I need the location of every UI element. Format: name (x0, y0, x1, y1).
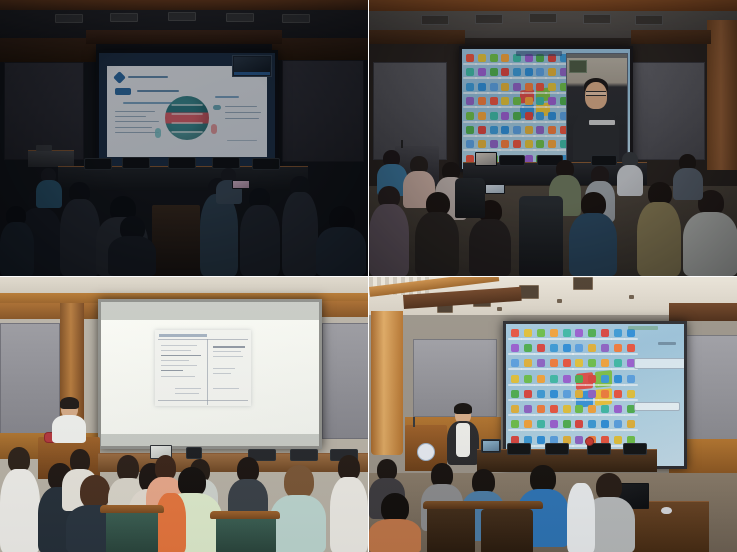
audience-member (567, 483, 595, 552)
document-sheet (155, 330, 251, 406)
scene-dark-auditorium-survey (0, 0, 368, 276)
document-row (161, 365, 197, 366)
cloud-icon (213, 105, 221, 110)
podium-microphone (413, 417, 415, 427)
desktop-icon[interactable] (599, 357, 611, 371)
desktop-icon-label (521, 414, 535, 416)
desktop-icon-glyph (511, 344, 519, 352)
desktop-icon[interactable] (509, 357, 521, 371)
torso (200, 194, 238, 276)
video-window-titlebar[interactable] (567, 54, 627, 58)
desktop-icon-label (560, 384, 574, 386)
desktop-icon[interactable] (612, 388, 624, 402)
desktop-icon-label (521, 429, 535, 431)
desktop-icon-glyph (588, 375, 596, 383)
desktop-icon-glyph (525, 97, 533, 105)
torso (637, 202, 681, 276)
person-figure-icon-left (155, 128, 161, 138)
desktop-icon[interactable] (612, 403, 624, 417)
desktop-icon-glyph (537, 405, 545, 413)
desktop-icon[interactable] (612, 418, 624, 432)
audience-member (316, 206, 366, 276)
ceiling-light-1 (55, 14, 83, 23)
seat-back (481, 509, 533, 552)
ceiling-light-1 (421, 15, 449, 25)
projector-screen-frame[interactable] (96, 50, 278, 172)
desktop-icon-glyph (524, 359, 532, 367)
desktop-icon-label (534, 399, 548, 401)
desktop-icon-glyph (536, 126, 544, 134)
desktop-icon[interactable] (509, 388, 521, 402)
panel-bottom-right[interactable] (368, 276, 737, 552)
desktop-icon[interactable] (561, 388, 573, 402)
desktop-icon-glyph (466, 97, 474, 105)
ceiling-light-2 (110, 13, 138, 22)
sphere-band-label-3 (172, 122, 203, 124)
torso (36, 180, 62, 208)
slide-survey (107, 66, 267, 157)
document-row (161, 370, 183, 371)
ceiling-wood-beam (369, 0, 737, 11)
desktop-icon[interactable] (612, 357, 624, 371)
desktop-icon[interactable] (535, 388, 547, 402)
desktop-icon-glyph (601, 405, 609, 413)
desktop-icon-glyph (575, 359, 583, 367)
desktop-icon-glyph (537, 329, 545, 337)
document-cell (213, 373, 231, 374)
remote-participant-thumbnail[interactable] (232, 55, 272, 77)
monitor-screen (483, 441, 499, 451)
desktop-icon-label (560, 338, 574, 340)
audience-member (0, 206, 34, 276)
desktop-icon-label (611, 399, 625, 401)
desktop-icon[interactable] (509, 418, 521, 432)
desktop-icon[interactable] (522, 418, 534, 432)
desktop-icon-glyph (563, 329, 571, 337)
desktop-icon-label (508, 338, 522, 340)
desktop-title-bar (628, 326, 658, 330)
desktop-icon[interactable] (561, 327, 573, 341)
desktop-icon-label (534, 368, 548, 370)
desktop-icon-glyph (511, 420, 519, 428)
ceiling-light-2 (475, 14, 503, 24)
desktop-icon-glyph (575, 329, 583, 337)
seat-arm (100, 505, 164, 513)
desktop-icon-label (547, 338, 561, 340)
desktop-icon-grid[interactable] (462, 49, 572, 169)
wall-pillar-right (707, 20, 737, 170)
desktop-icon-glyph (501, 97, 509, 105)
ceiling-light-3 (529, 13, 557, 23)
desktop-icon-glyph (511, 375, 519, 383)
desktop-icon-glyph (490, 54, 498, 62)
desktop-icon-label (560, 429, 574, 431)
desktop-icon-glyph (524, 375, 532, 383)
desktop-icon-label (598, 414, 612, 416)
presenter-laptop[interactable] (475, 152, 497, 166)
desktop-icon-label (508, 429, 522, 431)
desktop-icon-label (611, 338, 625, 340)
control-monitor-5 (252, 158, 280, 170)
desktop-icon[interactable] (561, 418, 573, 432)
desktop-icon[interactable] (535, 342, 547, 356)
desktop-icon-glyph (490, 68, 498, 76)
desktop-icon[interactable] (573, 357, 585, 371)
meeting-notification[interactable] (634, 358, 684, 369)
presenter-hair (454, 403, 472, 414)
desktop-icon[interactable] (535, 418, 547, 432)
desktop-icon[interactable] (625, 388, 637, 402)
desktop-icon-glyph (478, 54, 486, 62)
desktop-icon[interactable] (561, 403, 573, 417)
desktop-icon-label (508, 384, 522, 386)
projector-screen-frame[interactable] (98, 299, 322, 449)
desktop-icon[interactable] (548, 418, 560, 432)
desktop-icon-glyph (550, 375, 558, 383)
desktop-icon-glyph (537, 390, 545, 398)
desktop-icon[interactable] (548, 403, 560, 417)
audience-laptop (232, 180, 250, 189)
document-footer-rule (158, 400, 248, 401)
desktop-icon-label (547, 399, 561, 401)
desktop-icon-glyph (513, 140, 521, 148)
desktop-icon[interactable] (586, 373, 598, 387)
desktop-icon[interactable] (586, 327, 598, 341)
desktop-icon[interactable] (561, 342, 573, 356)
desktop-icon[interactable] (509, 342, 521, 356)
desktop-icon-glyph (614, 420, 622, 428)
desktop-icon[interactable] (561, 357, 573, 371)
seat-back (455, 178, 485, 218)
seat-back (519, 196, 563, 276)
torso (316, 227, 366, 276)
slide-document-scan (101, 320, 319, 434)
desktop-icon-glyph (490, 112, 498, 120)
desktop-icon-glyph (478, 112, 486, 120)
desktop-icon-label (534, 338, 548, 340)
panel-top-right[interactable] (368, 0, 737, 276)
desktop-icon-glyph (550, 359, 558, 367)
desktop-icon-label (598, 384, 612, 386)
desktop-icon-glyph (601, 420, 609, 428)
desktop-icon[interactable] (548, 357, 560, 371)
red-marker (585, 437, 594, 446)
control-monitor-3 (591, 155, 617, 166)
control-monitor-2 (507, 443, 531, 455)
audience-member (569, 192, 617, 276)
torso (108, 236, 156, 276)
left-item-3 (115, 127, 152, 128)
desktop-icon[interactable] (573, 418, 585, 432)
desktop-icon[interactable] (573, 434, 585, 448)
desktop-icon[interactable] (625, 373, 637, 387)
desktop-icon-glyph (511, 405, 519, 413)
desktop-icon-glyph (601, 329, 609, 337)
desktop-icon-label (624, 338, 638, 340)
desktop-icon[interactable] (561, 373, 573, 387)
document-column-divider (207, 339, 208, 405)
desktop-icon-glyph (627, 344, 635, 352)
audience-member (415, 192, 459, 276)
desktop-icon-label (598, 399, 612, 401)
desktop-icon-glyph (614, 436, 622, 444)
desktop-icon-glyph (525, 140, 533, 148)
desktop-icon-glyph (601, 375, 609, 383)
desktop-icon[interactable] (573, 327, 585, 341)
desktop-icon-label (534, 384, 548, 386)
desktop-icon[interactable] (509, 373, 521, 387)
scene-video-conference (369, 0, 737, 276)
desktop-icon-label (585, 399, 599, 401)
desktop-icon[interactable] (573, 403, 585, 417)
desk-monitor-1 (186, 447, 202, 459)
document-cell (213, 356, 243, 357)
desktop-icon-glyph (478, 83, 486, 91)
desktop-icon[interactable] (522, 373, 534, 387)
desktop-icon-label (598, 429, 612, 431)
desktop-icon[interactable] (586, 357, 598, 371)
audience-member (673, 154, 703, 200)
desktop-icon[interactable] (522, 327, 534, 341)
panel-bottom-left[interactable] (0, 276, 368, 552)
desktop-icon[interactable] (573, 342, 585, 356)
video-call-window[interactable] (566, 53, 628, 165)
desktop-icon[interactable] (599, 373, 611, 387)
desktop-icon-label (624, 429, 638, 431)
desktop-icon[interactable] (522, 342, 534, 356)
desktop-icon-glyph (525, 112, 533, 120)
desktop-icon-glyph (466, 83, 474, 91)
desktop-icon[interactable] (548, 327, 560, 341)
desktop-icon-glyph (614, 359, 622, 367)
desktop-icon-glyph (550, 405, 558, 413)
audience-member (282, 176, 318, 276)
speaker (52, 399, 86, 443)
desktop-icon[interactable] (535, 327, 547, 341)
desktop-icon-glyph (524, 344, 532, 352)
control-monitor-1 (481, 439, 501, 453)
desktop-icon-glyph (490, 97, 498, 105)
desktop-icon-label (598, 338, 612, 340)
desktop-icon[interactable] (625, 418, 637, 432)
left-item-detail-1 (115, 121, 159, 122)
desktop-icon-glyph (524, 405, 532, 413)
audience-member (330, 455, 368, 552)
desktop-icon-glyph (525, 126, 533, 134)
document-cell (213, 351, 241, 352)
banded-sphere-graphic (165, 96, 209, 140)
presenter-shirt (456, 423, 470, 457)
desktop-icon-label (534, 353, 548, 355)
desktop-icon-glyph (466, 140, 474, 148)
desktop-icon-glyph (524, 420, 532, 428)
right-item-1 (225, 106, 257, 107)
desktop-icon-label (508, 399, 522, 401)
desktop-icon-glyph (490, 140, 498, 148)
left-item-1 (115, 111, 155, 112)
torso (0, 222, 34, 276)
desktop-icon[interactable] (522, 357, 534, 371)
desktop-icon[interactable] (625, 342, 637, 356)
desktop-icon-glyph (588, 420, 596, 428)
projector-screen-surface (101, 302, 319, 446)
self-view-thumbnail[interactable] (569, 60, 587, 73)
desktop-icon[interactable] (535, 403, 547, 417)
desktop-icon-glyph (501, 126, 509, 134)
desktop-icon[interactable] (548, 373, 560, 387)
desktop-icon-label (585, 338, 599, 340)
desktop-icon-label (572, 445, 586, 447)
pip-caption-bar (234, 72, 270, 75)
desktop-icon-glyph (627, 329, 635, 337)
seat-back (427, 505, 475, 552)
desktop-icon-glyph (536, 140, 544, 148)
desktop-icon-glyph (537, 436, 545, 444)
desk-monitor-3 (290, 449, 318, 461)
desktop-icon[interactable] (586, 403, 598, 417)
desktop-icon-label (611, 429, 625, 431)
desktop-icon[interactable] (522, 388, 534, 402)
desktop-icon-glyph (575, 420, 583, 428)
desktop-icon-glyph (548, 68, 556, 76)
head (284, 465, 314, 499)
desktop-icon-glyph (563, 344, 571, 352)
desktop-icon[interactable] (535, 357, 547, 371)
desktop-icon-label (572, 384, 586, 386)
desktop-icon-glyph (575, 390, 583, 398)
desktop-icon-glyph (501, 112, 509, 120)
desktop-icon-label (624, 399, 638, 401)
desktop-icon-label (611, 368, 625, 370)
desktop-icon-label (572, 338, 586, 340)
panel-top-left[interactable] (0, 0, 368, 276)
desktop-icon-glyph (537, 420, 545, 428)
right-block-title (215, 96, 239, 98)
desktop-icon-glyph (513, 97, 521, 105)
desktop-icon[interactable] (509, 327, 521, 341)
desktop-icon[interactable] (586, 342, 598, 356)
wall-column-center (86, 30, 282, 44)
desktop-icon[interactable] (522, 403, 534, 417)
desktop-icon[interactable] (599, 418, 611, 432)
desktop-icon-glyph (588, 390, 596, 398)
desktop-icon-label (547, 384, 561, 386)
wall-trim-right (272, 38, 368, 60)
document-row (161, 360, 189, 361)
audience-laptop (485, 184, 505, 194)
desktop-icon-glyph (524, 390, 532, 398)
desktop-icon-label (585, 353, 599, 355)
ceiling-light-5 (635, 15, 663, 25)
desktop-icon[interactable] (535, 373, 547, 387)
right-item-3 (225, 118, 259, 119)
desktop-icon-label (508, 353, 522, 355)
desktop-icon-label (560, 368, 574, 370)
wall-trim-left (0, 38, 96, 62)
wall-band-left (0, 303, 100, 319)
seat-arm (210, 511, 280, 519)
desktop-icon[interactable] (612, 327, 624, 341)
sphere-band-label-4 (172, 131, 203, 133)
desktop-icon-glyph (550, 344, 558, 352)
desktop-icon-glyph (525, 83, 533, 91)
document-title (159, 334, 207, 337)
desktop-icon[interactable] (548, 388, 560, 402)
projector-screen-surface (462, 49, 630, 169)
wall-panel-right (282, 60, 364, 162)
desktop-icon[interactable] (586, 418, 598, 432)
torso (369, 204, 409, 276)
desktop-icon[interactable] (573, 388, 585, 402)
desktop-icon-glyph (601, 344, 609, 352)
desktop-icon[interactable] (573, 373, 585, 387)
document-cell (213, 388, 239, 389)
desktop-icon-glyph (501, 140, 509, 148)
desktop-icon-glyph (525, 68, 533, 76)
desktop-icon[interactable] (548, 342, 560, 356)
section-badge (115, 88, 131, 95)
desktop-icon-glyph (575, 405, 583, 413)
projector-unit (36, 145, 52, 151)
desktop-icon-label (547, 414, 561, 416)
wall-pillar-left (371, 311, 403, 455)
torso (270, 495, 326, 552)
torso (673, 168, 703, 200)
left-item-2 (115, 116, 146, 117)
desktop-icon[interactable] (599, 327, 611, 341)
document-cell (213, 368, 235, 369)
desktop-icon[interactable] (612, 373, 624, 387)
desktop-icon-label (521, 338, 535, 340)
desktop-icon[interactable] (612, 342, 624, 356)
sphere-band-label-1 (172, 104, 203, 106)
document-row (161, 376, 195, 377)
meeting-title-banner (516, 51, 562, 56)
audience-member (240, 188, 280, 276)
audience-member (36, 168, 62, 208)
desktop-icon-label (611, 384, 625, 386)
desktop-icon-glyph (627, 375, 635, 383)
desktop-icon-label (521, 353, 535, 355)
desktop-icon[interactable] (599, 388, 611, 402)
desktop-icon-glyph (501, 68, 509, 76)
desktop-icon-glyph (588, 405, 596, 413)
desktop-icon-label (598, 353, 612, 355)
desktop-icon-label (547, 353, 561, 355)
desktop-icon-label (508, 414, 522, 416)
control-monitor-3 (168, 157, 196, 169)
desktop-icon-glyph (588, 329, 596, 337)
document-header-rule (158, 339, 248, 340)
computer-mouse[interactable] (661, 507, 672, 514)
ceiling-light-5 (282, 14, 310, 23)
desktop-icon-glyph (575, 436, 583, 444)
desktop-icon[interactable] (599, 403, 611, 417)
desktop-icon[interactable] (599, 342, 611, 356)
wall-panel-right (322, 323, 368, 439)
desktop-icon[interactable] (586, 388, 598, 402)
window-controls[interactable] (658, 342, 676, 345)
desktop-icon-glyph (627, 420, 635, 428)
desktop-icon-label (611, 414, 625, 416)
desktop-icon-glyph (478, 68, 486, 76)
desktop-icon-glyph (490, 83, 498, 91)
desktop-icon-glyph (627, 390, 635, 398)
desktop-icon[interactable] (509, 403, 521, 417)
desktop-icon-glyph (536, 112, 544, 120)
desktop-icon-glyph (563, 359, 571, 367)
desktop-icon-label (585, 368, 599, 370)
